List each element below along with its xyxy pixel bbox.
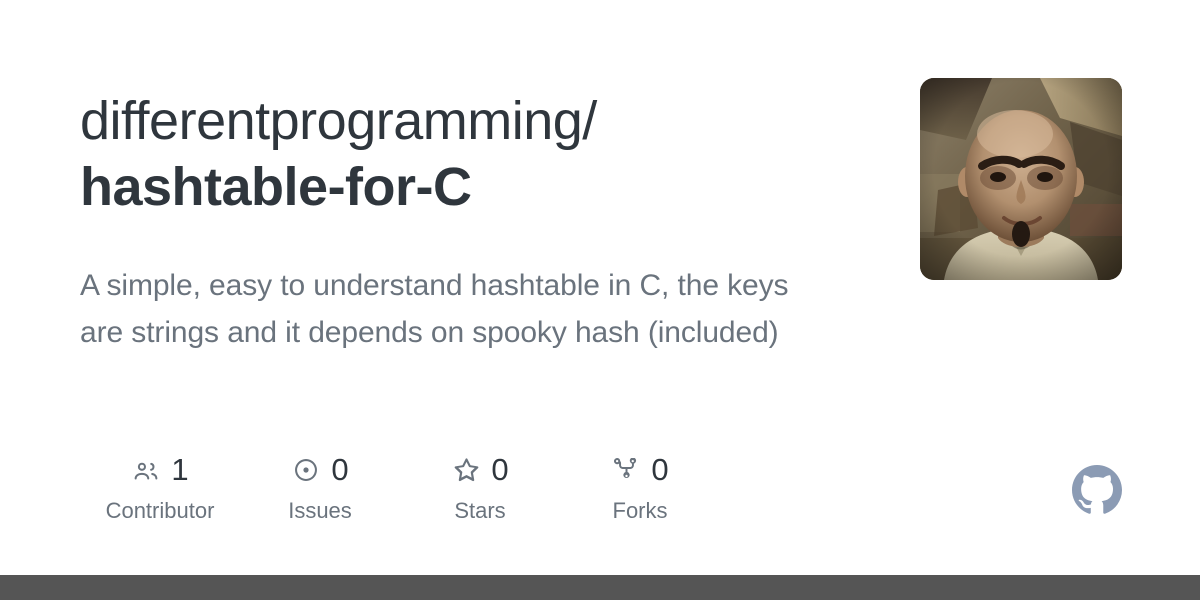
repository-stats: 1 Contributor 0 Issues (80, 452, 720, 524)
stat-forks-value: 0 (651, 454, 668, 486)
page-title: differentprogramming/ hashtable-for-C (80, 88, 780, 220)
avatar[interactable] (920, 78, 1122, 280)
star-icon (451, 455, 481, 485)
stat-issues-value: 0 (331, 454, 348, 486)
stat-contributors[interactable]: 1 Contributor (80, 452, 240, 524)
stat-stars-top: 0 (451, 452, 508, 488)
repository-name[interactable]: hashtable-for-C (80, 154, 780, 220)
stat-stars-value: 0 (491, 454, 508, 486)
bottom-bar (0, 575, 1200, 600)
repository-preview-card: differentprogramming/ hashtable-for-C A … (0, 0, 1200, 575)
stat-contributors-label: Contributor (106, 498, 215, 524)
stat-stars[interactable]: 0 Stars (400, 452, 560, 524)
repo-forked-icon (611, 455, 641, 485)
people-icon (131, 455, 161, 485)
stat-contributors-value: 1 (171, 454, 188, 486)
stat-stars-label: Stars (454, 498, 505, 524)
stat-issues-label: Issues (288, 498, 352, 524)
stat-issues-top: 0 (291, 452, 348, 488)
avatar-photo (920, 78, 1122, 280)
stat-contributors-top: 1 (131, 452, 188, 488)
repository-description: A simple, easy to understand hashtable i… (80, 262, 810, 356)
issue-opened-icon (291, 455, 321, 485)
github-octocat-icon (1072, 465, 1122, 515)
stat-forks-top: 0 (611, 452, 668, 488)
repository-owner[interactable]: differentprogramming/ (80, 88, 780, 154)
stat-issues[interactable]: 0 Issues (240, 452, 400, 524)
stat-forks-label: Forks (613, 498, 668, 524)
stat-forks[interactable]: 0 Forks (560, 452, 720, 524)
